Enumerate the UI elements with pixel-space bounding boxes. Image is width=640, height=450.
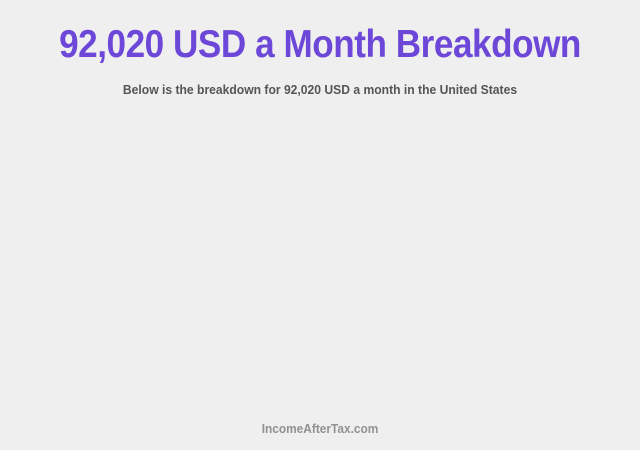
chart-canvas-empty [0,98,640,422]
page-title: 92,020 USD a Month Breakdown [32,22,608,68]
site-watermark: IncomeAfterTax.com [16,422,624,437]
chart-footer: IncomeAfterTax.com [0,422,640,450]
income-breakdown-page: 92,020 USD a Month Breakdown Below is th… [0,0,640,450]
page-subtitle: Below is the breakdown for 92,020 USD a … [10,68,631,98]
chart-header: 92,020 USD a Month Breakdown Below is th… [0,0,640,98]
chart-plot-area [0,98,640,422]
